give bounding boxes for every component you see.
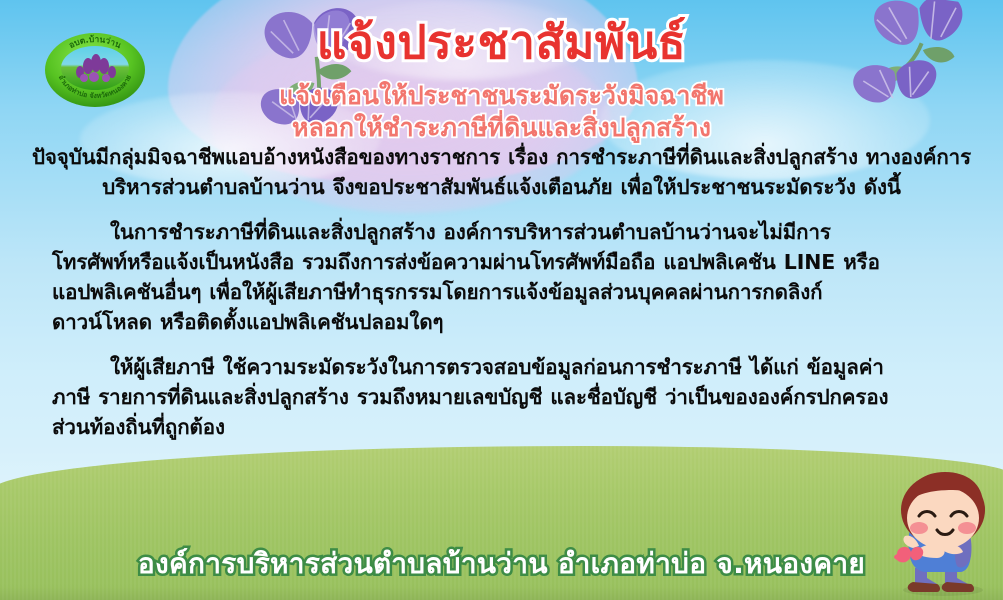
subtitle-line-1: แจ้งเตือนให้ประชาชนระมัดระวังมิจฉาชีพ	[0, 80, 1003, 112]
title-block: แจ้งประชาสัมพันธ์	[0, 18, 1003, 66]
paragraph-1: ปัจจุบันมีกลุ่มมิจฉาชีพแอบอ้างหนังสือของ…	[22, 143, 981, 202]
footer-organization-name: องค์การบริหารส่วนตำบลบ้านว่าน อำเภอท่าบ่…	[138, 542, 865, 586]
subtitle-block: แจ้งเตือนให้ประชาชนระมัดระวังมิจฉาชีพ หล…	[0, 80, 1003, 144]
footer-block: องค์การบริหารส่วนตำบลบ้านว่าน อำเภอท่าบ่…	[0, 542, 1003, 586]
paragraph-3: ให้ผู้เสียภาษี ใช้ความระมัดระวังในการตรว…	[22, 353, 981, 442]
paragraph-2: ในการชำระภาษีที่ดินและสิ่งปลูกสร้าง องค์…	[22, 218, 981, 337]
announcement-poster: อบต.บ้านว่าน อำเภอท่าบ่อ จังหวัดหนองคาย …	[0, 0, 1003, 600]
bowing-boy-character-icon	[857, 470, 997, 598]
grass-shadow	[0, 586, 1003, 600]
page-title: แจ้งประชาสัมพันธ์	[317, 18, 686, 66]
body-content: ปัจจุบันมีกลุ่มมิจฉาชีพแอบอ้างหนังสือของ…	[0, 143, 1003, 442]
subtitle-line-2: หลอกให้ชำระภาษีที่ดินและสิ่งปลูกสร้าง	[0, 112, 1003, 144]
